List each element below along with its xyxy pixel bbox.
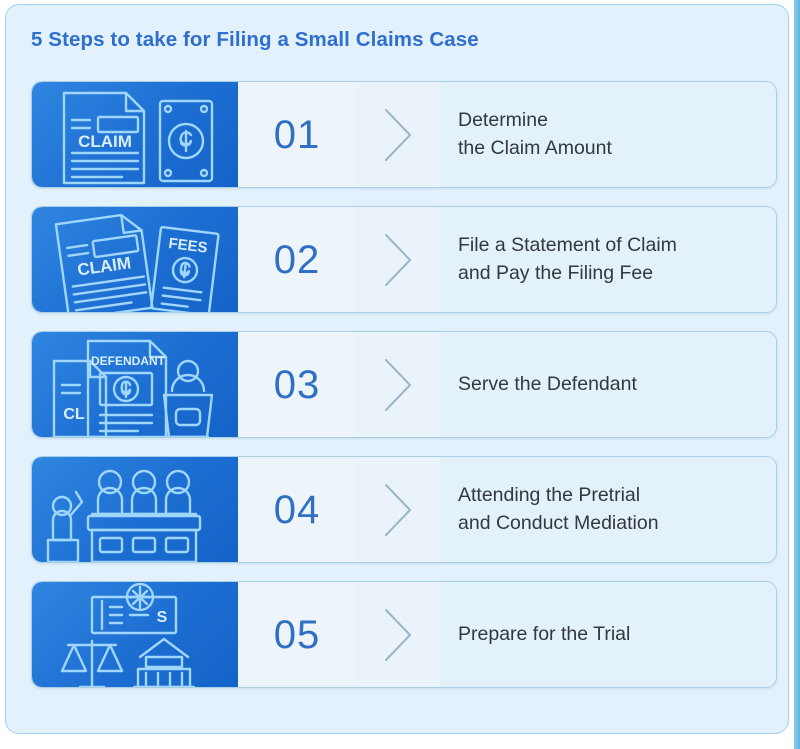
step-label-05: Prepare for the Trial xyxy=(458,621,630,649)
certificate-scales-and-courthouse-icon: S xyxy=(40,583,230,687)
step-number-05: 05 xyxy=(274,615,321,655)
page-title: 5 Steps to take for Filing a Small Claim… xyxy=(31,28,479,52)
step-number-02: 02 xyxy=(274,240,321,280)
svg-text:CLAIM: CLAIM xyxy=(76,253,132,279)
step-label-cell-04: Attending the Pretrial and Conduct Media… xyxy=(440,457,776,562)
step-card-03[interactable]: CL DEFENDANT 03 xyxy=(31,331,777,438)
svg-text:CLAIM: CLAIM xyxy=(78,132,132,151)
steps-list: CLAIM 01 Determine the Clai xyxy=(31,81,777,688)
step-label-cell-01: Determine the Claim Amount xyxy=(440,82,776,187)
claim-document-and-dollar-bill-icon: CLAIM xyxy=(40,83,230,187)
svg-text:CL: CL xyxy=(63,406,85,423)
step-number-cell-03: 03 xyxy=(238,332,356,437)
mediation-panel-bench-icon xyxy=(40,458,230,562)
claim-document-and-fees-invoice-icon: CLAIM FEES xyxy=(40,208,230,312)
step-chevron-cell-05 xyxy=(356,582,440,687)
svg-text:FEES: FEES xyxy=(167,234,208,256)
step-card-02[interactable]: CLAIM FEES 02 xyxy=(31,206,777,313)
step-label-cell-05: Prepare for the Trial xyxy=(440,582,776,687)
svg-text:S: S xyxy=(157,609,168,626)
step-number-03: 03 xyxy=(274,365,321,405)
step-label-cell-02: File a Statement of Claim and Pay the Fi… xyxy=(440,207,776,312)
step-number-cell-02: 02 xyxy=(238,207,356,312)
chevron-right-icon xyxy=(381,231,415,289)
step-chevron-cell-01 xyxy=(356,82,440,187)
step-number-cell-01: 01 xyxy=(238,82,356,187)
step-number-01: 01 xyxy=(274,115,321,155)
step-label-01: Determine the Claim Amount xyxy=(458,107,612,162)
right-edge-accent-bar xyxy=(794,0,800,749)
step-number-cell-04: 04 xyxy=(238,457,356,562)
svg-text:DEFENDANT: DEFENDANT xyxy=(91,354,166,368)
step-number-cell-05: 05 xyxy=(238,582,356,687)
step-chevron-cell-03 xyxy=(356,332,440,437)
step-label-03: Serve the Defendant xyxy=(458,371,637,399)
defendant-document-and-podium-icon: CL DEFENDANT xyxy=(40,333,230,437)
step-icon-panel-02: CLAIM FEES xyxy=(32,207,238,312)
step-icon-panel-05: S xyxy=(32,582,238,687)
step-chevron-cell-02 xyxy=(356,207,440,312)
chevron-right-icon xyxy=(381,356,415,414)
chevron-right-icon xyxy=(381,106,415,164)
step-icon-panel-03: CL DEFENDANT xyxy=(32,332,238,437)
step-label-cell-03: Serve the Defendant xyxy=(440,332,776,437)
step-number-04: 04 xyxy=(274,490,321,530)
infographic-frame: 5 Steps to take for Filing a Small Claim… xyxy=(5,4,789,734)
chevron-right-icon xyxy=(381,606,415,664)
step-card-05[interactable]: S 05 xyxy=(31,581,777,688)
step-card-01[interactable]: CLAIM 01 Determine the Clai xyxy=(31,81,777,188)
step-card-04[interactable]: 04 Attending the Pretrial and Conduct Me… xyxy=(31,456,777,563)
step-chevron-cell-04 xyxy=(356,457,440,562)
step-label-02: File a Statement of Claim and Pay the Fi… xyxy=(458,232,677,287)
step-label-04: Attending the Pretrial and Conduct Media… xyxy=(458,482,659,537)
chevron-right-icon xyxy=(381,481,415,539)
step-icon-panel-01: CLAIM xyxy=(32,82,238,187)
step-icon-panel-04 xyxy=(32,457,238,562)
